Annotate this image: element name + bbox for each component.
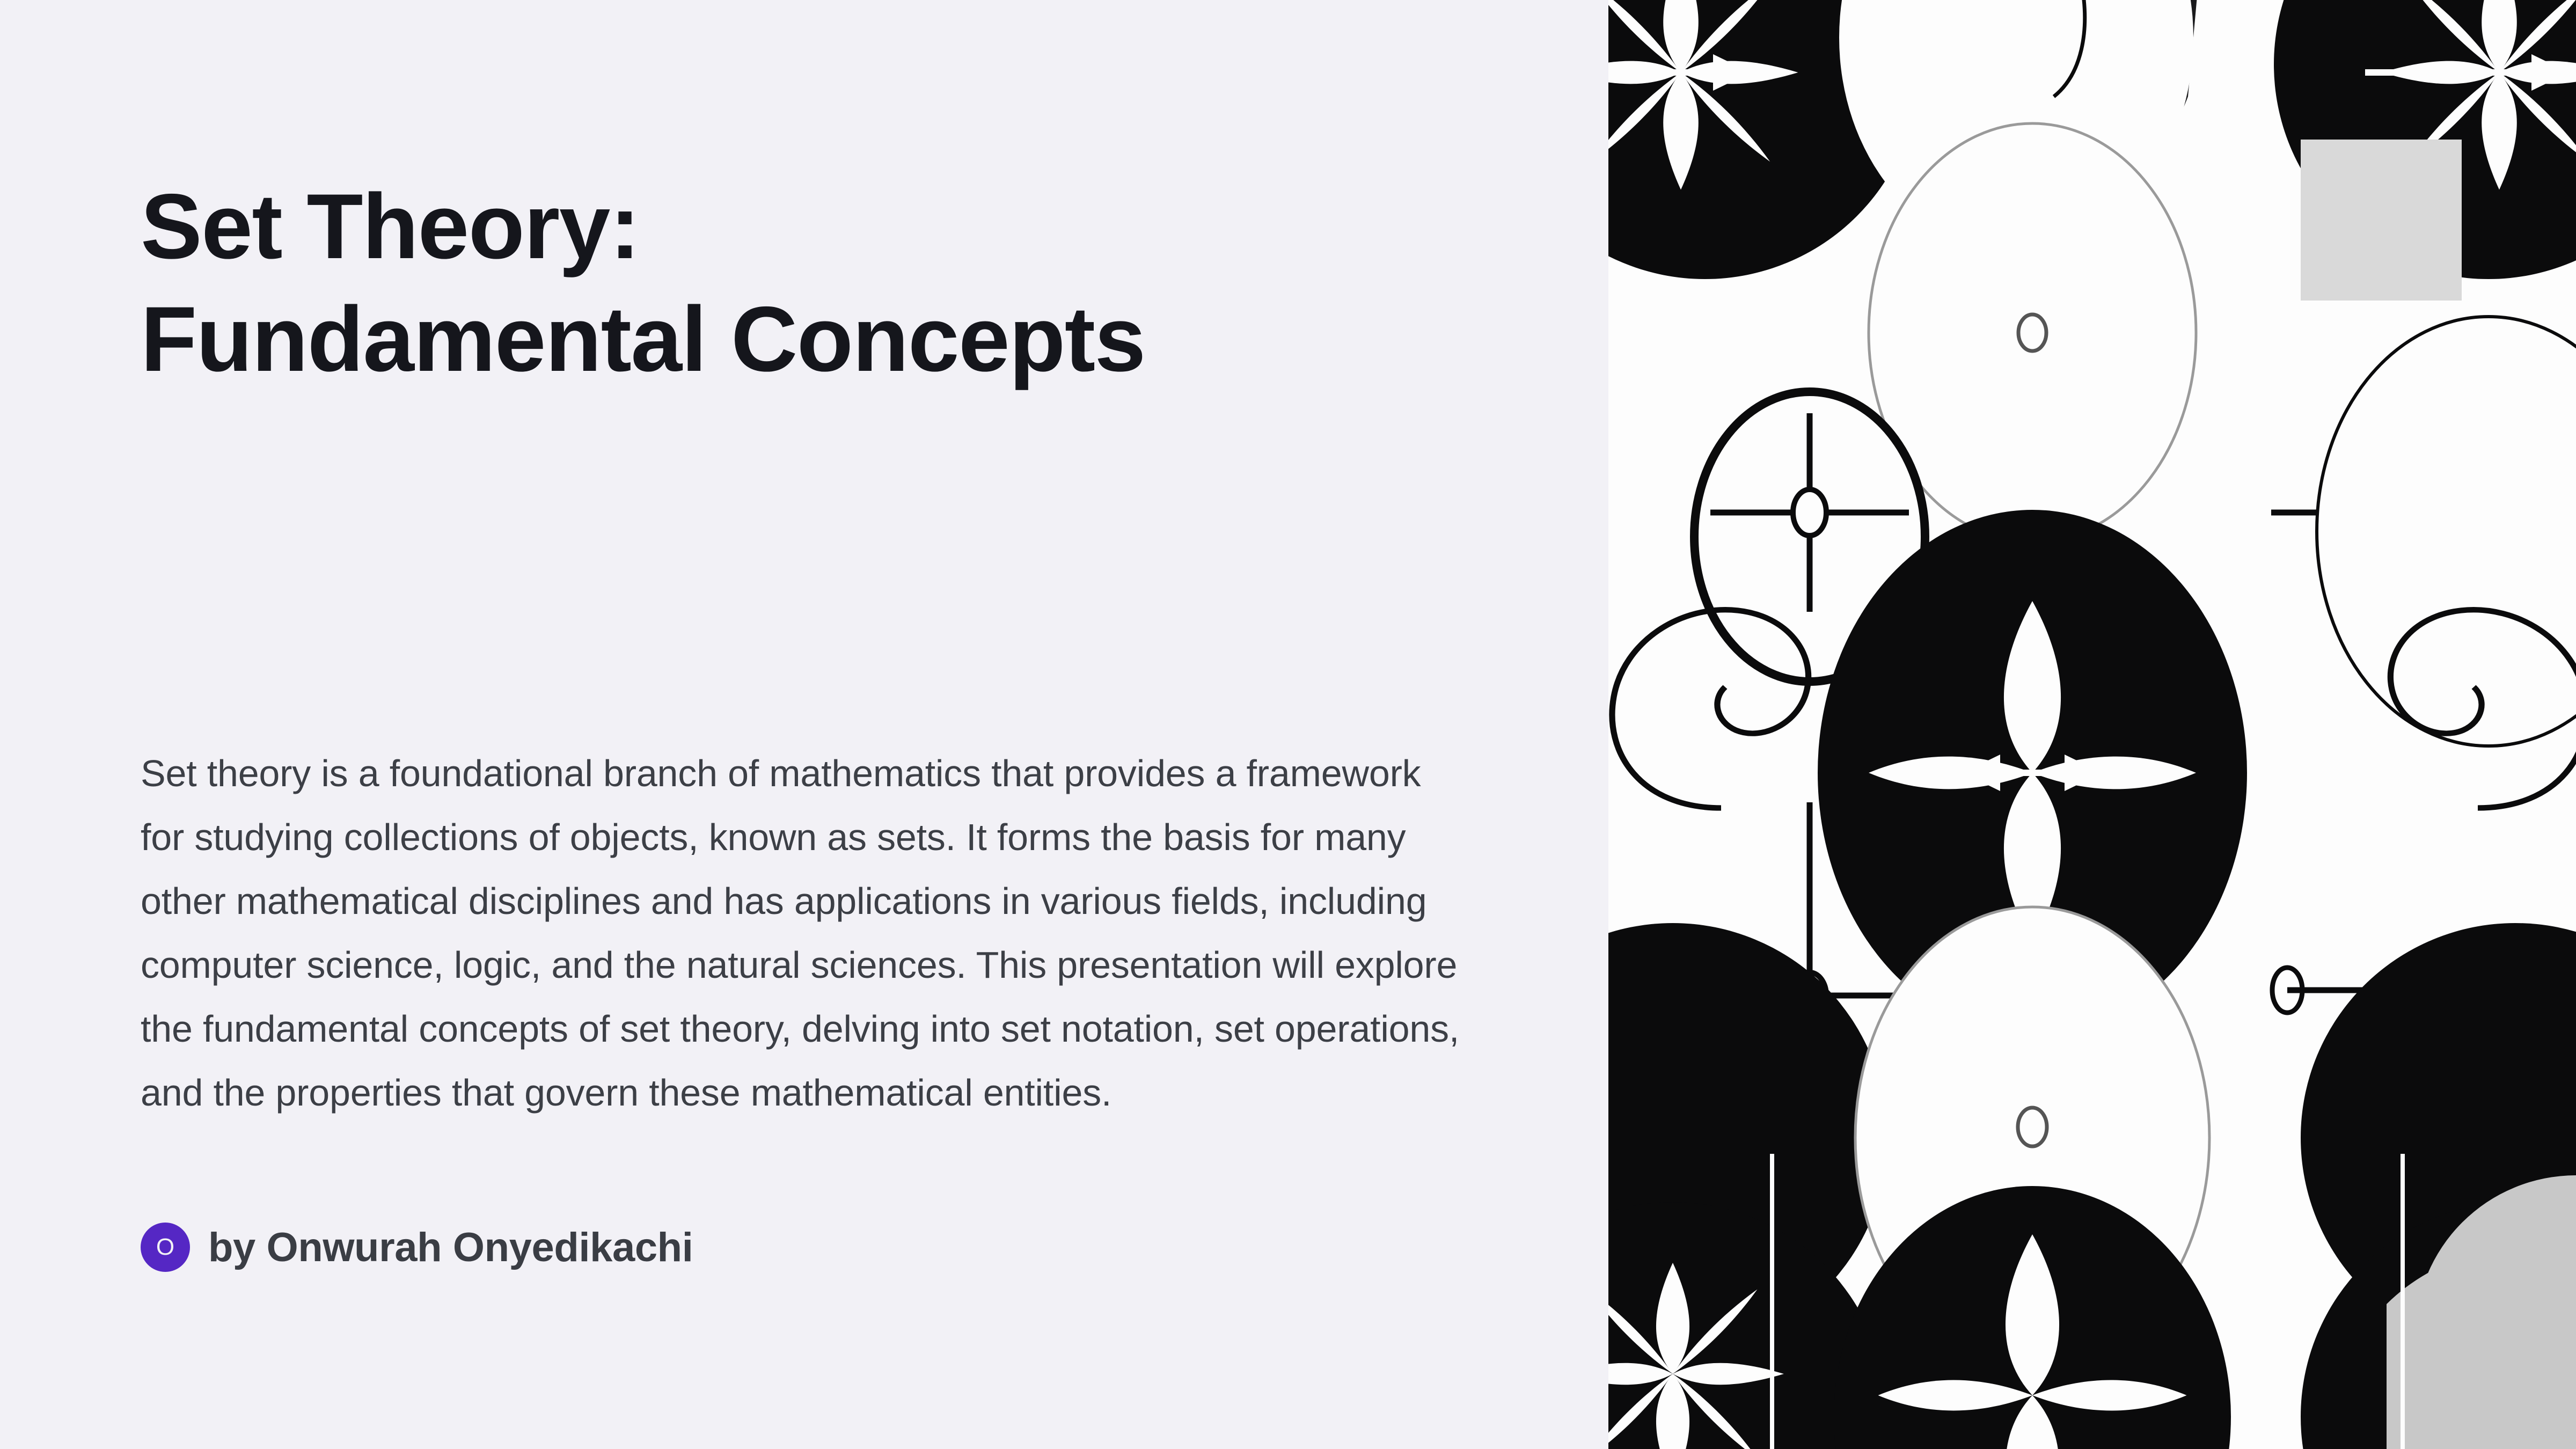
author-name: by Onwurah Onyedikachi — [208, 1224, 693, 1271]
title-line-2: Fundamental Concepts — [141, 283, 1482, 396]
page-title: Set Theory: Fundamental Concepts — [141, 171, 1482, 396]
decorative-artwork-panel — [1608, 0, 2576, 1449]
presentation-slide: Set Theory: Fundamental Concepts Set the… — [0, 0, 2576, 1449]
intro-paragraph: Set theory is a foundational branch of m… — [141, 742, 1472, 1125]
abstract-pattern-graphic — [1608, 0, 2576, 1449]
content-pane: Set Theory: Fundamental Concepts Set the… — [0, 0, 1608, 1449]
title-line-1: Set Theory: — [141, 171, 1482, 283]
body-text-block: Set theory is a foundational branch of m… — [141, 742, 1472, 1125]
author-byline: O by Onwurah Onyedikachi — [141, 1223, 693, 1272]
avatar: O — [141, 1223, 190, 1272]
